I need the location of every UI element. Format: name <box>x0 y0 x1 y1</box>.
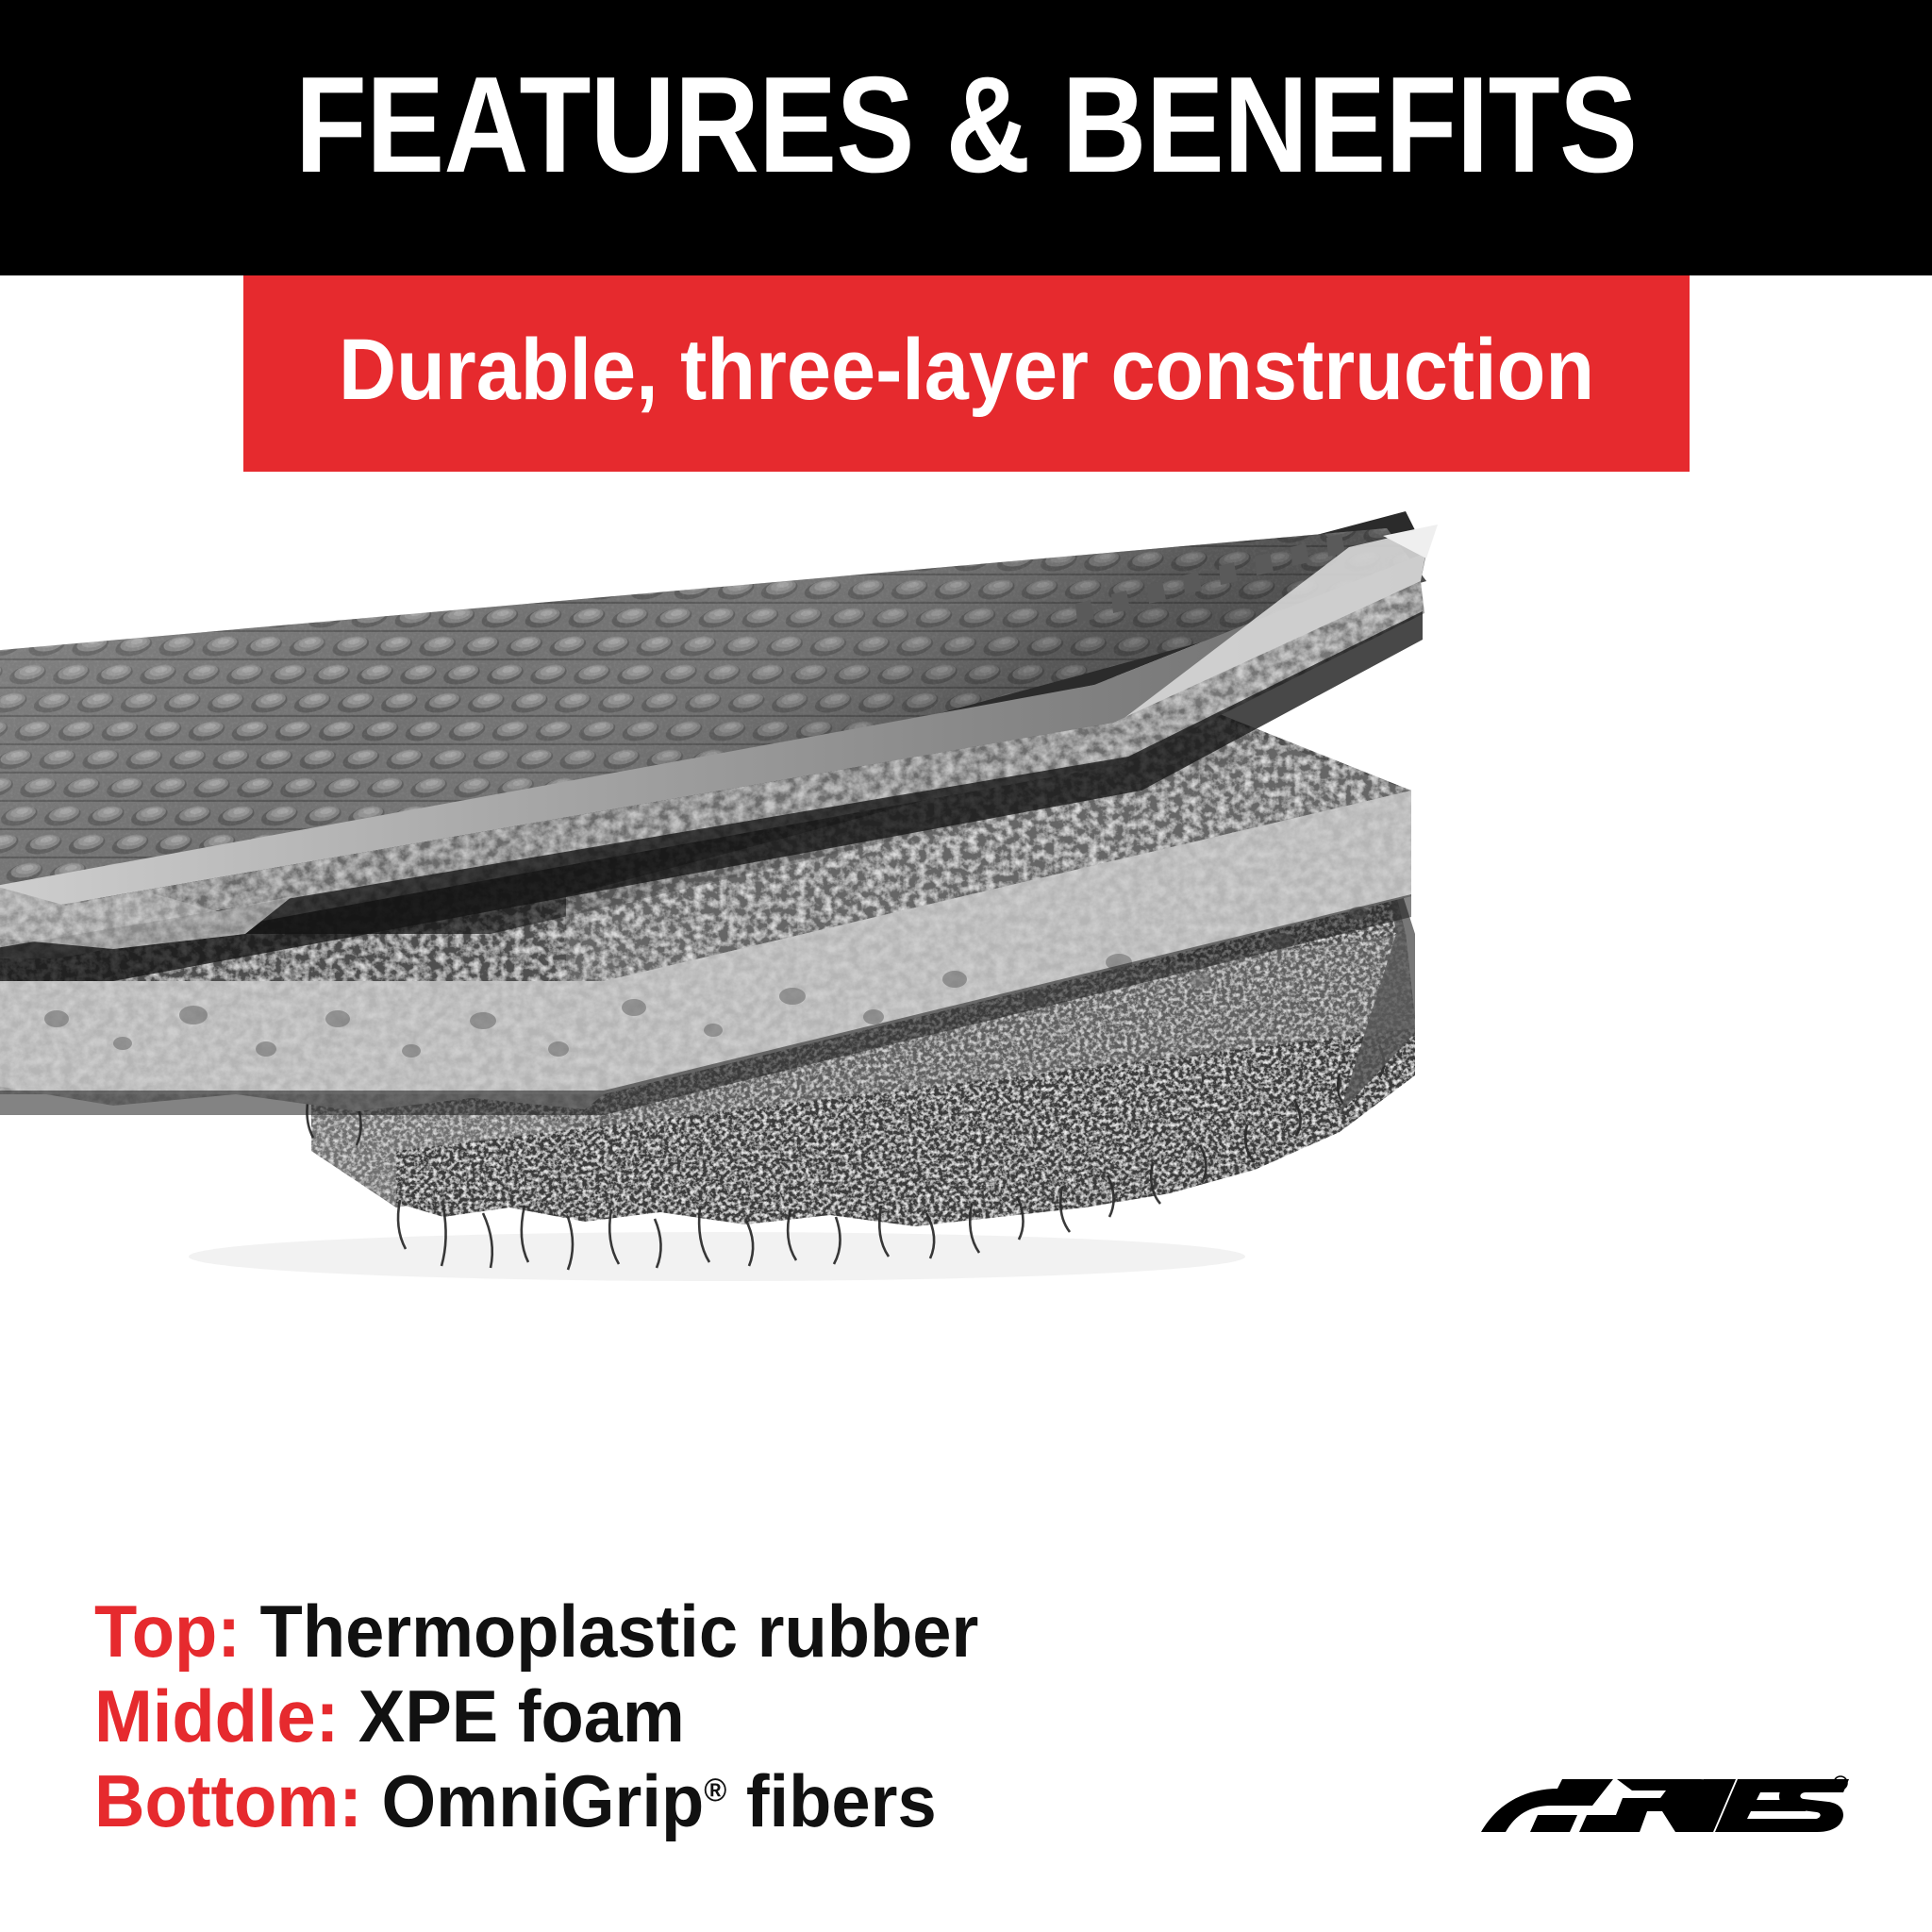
aries-logo: R <box>1481 1770 1849 1853</box>
product-image <box>0 491 1932 1566</box>
caption-middle-value: XPE foam <box>358 1674 685 1757</box>
registered-trademark-icon: ® <box>704 1773 726 1808</box>
caption-bottom: Bottom: OmniGrip® fibers <box>94 1758 1259 1843</box>
caption-bottom-value-suffix: fibers <box>726 1759 936 1842</box>
caption-middle: Middle: XPE foam <box>94 1674 1259 1758</box>
subtitle-banner: Durable, three-layer construction <box>243 275 1690 472</box>
subtitle-text: Durable, three-layer construction <box>301 326 1631 413</box>
caption-bottom-key: Bottom: <box>94 1759 382 1842</box>
three-layer-mat-illustration <box>0 491 1932 1566</box>
caption-middle-key: Middle: <box>94 1674 358 1757</box>
svg-text:R: R <box>1838 1780 1844 1790</box>
aries-logo-mark: R <box>1481 1770 1849 1853</box>
page-title: FEATURES & BENEFITS <box>135 57 1796 193</box>
header-bar: FEATURES & BENEFITS <box>0 0 1932 275</box>
layer-caption-list: Top: Thermoplastic rubber Middle: XPE fo… <box>94 1589 1321 1843</box>
caption-top-key: Top: <box>94 1590 260 1673</box>
caption-top-value: Thermoplastic rubber <box>260 1590 979 1673</box>
caption-top: Top: Thermoplastic rubber <box>94 1589 1259 1674</box>
caption-bottom-value: OmniGrip <box>382 1759 705 1842</box>
